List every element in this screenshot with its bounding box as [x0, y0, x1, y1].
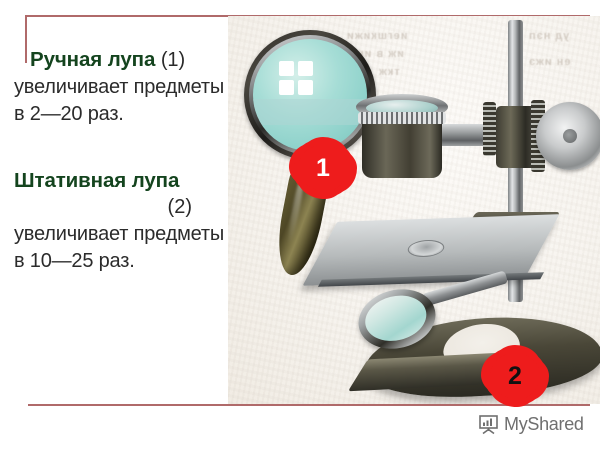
heading-tripod-magnifier-number: (2): [14, 194, 228, 220]
myshared-watermark-label: MyShared: [504, 414, 584, 435]
slide-canvas: Ручная лупа (1) увеличивает предметы в 2…: [0, 0, 600, 450]
text-block-hand-magnifier: Ручная лупа (1) увеличивает предметы в 2…: [0, 46, 236, 127]
window-reflection-icon: [279, 61, 313, 95]
tripod-focus-knob: [536, 102, 600, 170]
tripod-lens-knurl-band: [358, 112, 446, 124]
heading-hand-magnifier-label: Ручная лупа: [30, 48, 155, 71]
presentation-chart-icon: [478, 414, 499, 435]
callout-badge-2-label: 2: [490, 353, 540, 399]
callout-badge-1-label: 1: [298, 145, 348, 191]
tripod-knurled-ring-left: [483, 102, 496, 156]
text-column: Ручная лупа (1) увеличивает предметы в 2…: [0, 46, 236, 274]
heading-hand-magnifier-number: (1): [161, 49, 185, 71]
myshared-watermark: MyShared: [478, 414, 584, 435]
text-block-tripod-magnifier: Штативная лупа (2) увеличивает предметы …: [0, 167, 236, 274]
magnifier-illustration: иегшкижи иж в ин ткж уд нэп ен ижэ: [228, 16, 600, 404]
heading-hand-magnifier: Ручная лупа (1): [14, 46, 228, 73]
tripod-magnifier-figure: [348, 72, 600, 402]
frame-bottom-rule: [28, 404, 590, 406]
ghost-text-line: ен ижэ: [528, 56, 570, 68]
body-tripod-magnifier: увеличивает предметы в 10—25 раз.: [14, 221, 228, 274]
ghost-text-line: уд нэп: [528, 30, 569, 42]
callout-badge-2: 2: [490, 353, 540, 399]
callout-badge-1: 1: [298, 145, 348, 191]
heading-tripod-magnifier: Штативная лупа: [14, 167, 228, 194]
body-hand-magnifier: увеличивает предметы в 2—20 раз.: [14, 74, 228, 127]
